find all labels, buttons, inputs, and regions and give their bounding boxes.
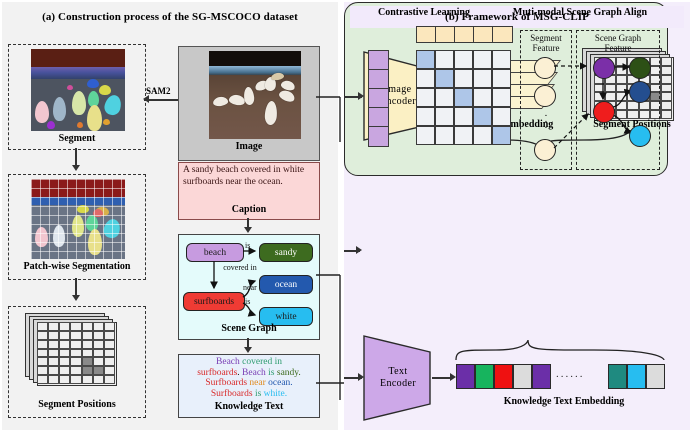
sg-edge-label-covered-in: covered in (217, 263, 263, 273)
arrow-text-encoder-out (432, 377, 452, 379)
matrix-row-header-cell (368, 69, 389, 90)
embedding-cell (608, 364, 627, 389)
matrix-cell (492, 50, 511, 69)
text-encoder-label: TextEncoder (362, 366, 434, 390)
arrow-patch-to-positions-head (72, 295, 80, 301)
panel-b: (b) Framework of MSG-CLIP ImageEncoder I… (344, 2, 690, 430)
matrix-cell (473, 126, 492, 145)
graph-node-purple (593, 57, 615, 79)
knowledge-text-line: Surfboards is white. (181, 389, 317, 400)
sg-edge-label-is-2: is (245, 297, 250, 306)
scene-graph-feature-box: Scene Graph Feature (576, 30, 660, 170)
segment-image (31, 49, 125, 131)
segment-feature-node (534, 57, 556, 79)
graph-node-darkgreen (629, 57, 651, 79)
align-label: Muti-modal Scene Graph Align (498, 7, 662, 18)
sg-node-surfboards: surfboards (183, 292, 245, 311)
knowledge-text-token: surfboards (197, 368, 237, 378)
matrix-cell (416, 126, 435, 145)
matrix-col-header-cell (435, 26, 456, 43)
matrix-cell (416, 69, 435, 88)
embedding-cell (646, 364, 665, 389)
matrix-cell (492, 88, 511, 107)
matrix-cell (435, 50, 454, 69)
segment-feature-label-1: Segment (530, 33, 562, 43)
scene-graph-feature-label-1: Scene Graph (595, 33, 641, 43)
segment-label: Segment (9, 133, 145, 144)
knowledge-text-token: ocean. (268, 378, 293, 388)
scene-graph-label: Scene Graph (179, 323, 319, 334)
knowledge-text-token: is (255, 389, 264, 399)
knowledge-text-embedding-label: Knowledge Text Embedding (456, 396, 672, 407)
arrow-to-text-encoder-head (358, 373, 364, 381)
matrix-col-header-cell (492, 26, 513, 43)
knowledge-text-embedding-left (456, 364, 551, 389)
sg-node-beach: beach (186, 243, 244, 262)
matrix-col-header-cell (454, 26, 475, 43)
caption-box: A sandy beach covered in white surfboard… (178, 162, 320, 220)
arrow-patch-to-positions (75, 278, 77, 296)
matrix-row-header-cell (368, 88, 389, 109)
knowledge-text-token: Surfboards (205, 378, 249, 388)
knowledge-text-token: near (249, 378, 268, 388)
matrix-cell (416, 88, 435, 107)
knowledge-text-token: white. (264, 389, 287, 399)
matrix-row-header-cell (368, 50, 389, 71)
panel-a: (a) Construction process of the SG-MSCOC… (2, 2, 338, 430)
knowledge-text-label: Knowledge Text (179, 401, 319, 412)
arrow-sg-to-kt-head (244, 347, 252, 353)
matrix-row-header-cell (368, 126, 389, 147)
knowledge-text-token: Beach (242, 368, 268, 378)
segment-positions-label: Segment Positions (9, 399, 145, 410)
embedding-cell (513, 364, 532, 389)
knowledge-text-token: covered in (242, 357, 282, 367)
matrix-cell (492, 126, 511, 145)
sg-edge-label-is-1: is (245, 241, 250, 250)
matrix-cell (416, 50, 435, 69)
arrow-segment-to-patch (75, 148, 77, 166)
knowledge-text-line: Surfboards near ocean. (181, 378, 317, 389)
graph-node-darkblue (629, 81, 651, 103)
segment-positions-cube (25, 313, 135, 395)
knowledge-text-token: Surfboards (211, 389, 255, 399)
matrix-cell (416, 107, 435, 126)
knowledge-text-line: Beach covered in (181, 357, 317, 368)
matrix-cell (435, 69, 454, 88)
matrix-cell (454, 50, 473, 69)
segment-feature-ellipsis: ··· (521, 113, 571, 131)
embedding-cell (475, 364, 494, 389)
figure-root: (a) Construction process of the SG-MSCOC… (0, 0, 692, 432)
sam2-label: SAM2 (146, 86, 171, 96)
similarity-matrix (416, 50, 511, 145)
scene-graph-feature-label-2: Feature (605, 43, 632, 53)
contrastive-learning-label: Contrastive Learning (350, 7, 498, 18)
caption-label: Caption (179, 204, 319, 215)
knowledge-text-token: sandy. (277, 368, 301, 378)
caption-text: A sandy beach covered in white surfboard… (183, 165, 316, 188)
segment-positions-box: Segment Positions (8, 306, 146, 418)
knowledge-text-embedding-right (608, 364, 665, 389)
text-encoder[interactable]: TextEncoder (362, 334, 434, 422)
embedding-cell (494, 364, 513, 389)
matrix-cell (473, 107, 492, 126)
segment-feature-node (534, 85, 556, 107)
patchwise-label: Patch-wise Segmentation (9, 261, 145, 272)
matrix-cell (454, 69, 473, 88)
graph-node-red (593, 101, 615, 123)
knowledge-text-token: is (268, 368, 277, 378)
matrix-cell (492, 107, 511, 126)
matrix-col-header-cell (473, 26, 494, 43)
patchwise-image (31, 179, 125, 259)
arrow-to-image-encoder-head (358, 92, 364, 100)
image-box: Image (178, 46, 320, 161)
matrix-cell (473, 69, 492, 88)
image-label: Image (179, 141, 319, 152)
matrix-cell (473, 88, 492, 107)
graph-node-cyan (629, 125, 651, 147)
matrix-cell (435, 126, 454, 145)
panel-a-title: (a) Construction process of the SG-MSCOC… (8, 6, 332, 28)
sg-node-ocean: ocean (259, 275, 313, 294)
segment-feature-box: Segment Feature ··· (520, 30, 572, 170)
matrix-cell (473, 50, 492, 69)
sg-edge-label-near: near (243, 283, 257, 292)
segment-feature-node (534, 139, 556, 161)
arrow-sam2 (144, 99, 178, 101)
matrix-cell (454, 107, 473, 126)
matrix-cell (435, 88, 454, 107)
arrow-segment-to-patch-head (72, 165, 80, 171)
embedding-cell (532, 364, 551, 389)
matrix-cell (492, 69, 511, 88)
matrix-cell (454, 88, 473, 107)
embedding-ellipsis: ...... (556, 368, 585, 380)
source-image (209, 51, 301, 139)
arrow-to-align-panel-head (356, 246, 362, 254)
embedding-cell (456, 364, 475, 389)
arrow-caption-to-sg-head (244, 227, 252, 233)
knowledge-text-box: Beach covered insurfboards. Beach is san… (178, 354, 320, 418)
matrix-row-header-cell (368, 107, 389, 128)
matrix-col-header-cell (416, 26, 437, 43)
arrow-sam2-head (143, 95, 149, 103)
knowledge-text-lines: Beach covered insurfboards. Beach is san… (181, 357, 317, 399)
scene-graph-box: beach sandy surfboards ocean white is co… (178, 234, 320, 340)
patchwise-box: Patch-wise Segmentation (8, 174, 146, 280)
segment-feature-label-2: Feature (533, 43, 560, 53)
matrix-cell (435, 107, 454, 126)
knowledge-text-line: surfboards. Beach is sandy. (181, 368, 317, 379)
knowledge-text-token: Beach (216, 357, 242, 367)
sg-node-sandy: sandy (259, 243, 313, 262)
segment-box: Segment (8, 44, 146, 150)
matrix-cell (454, 126, 473, 145)
embedding-cell (627, 364, 646, 389)
